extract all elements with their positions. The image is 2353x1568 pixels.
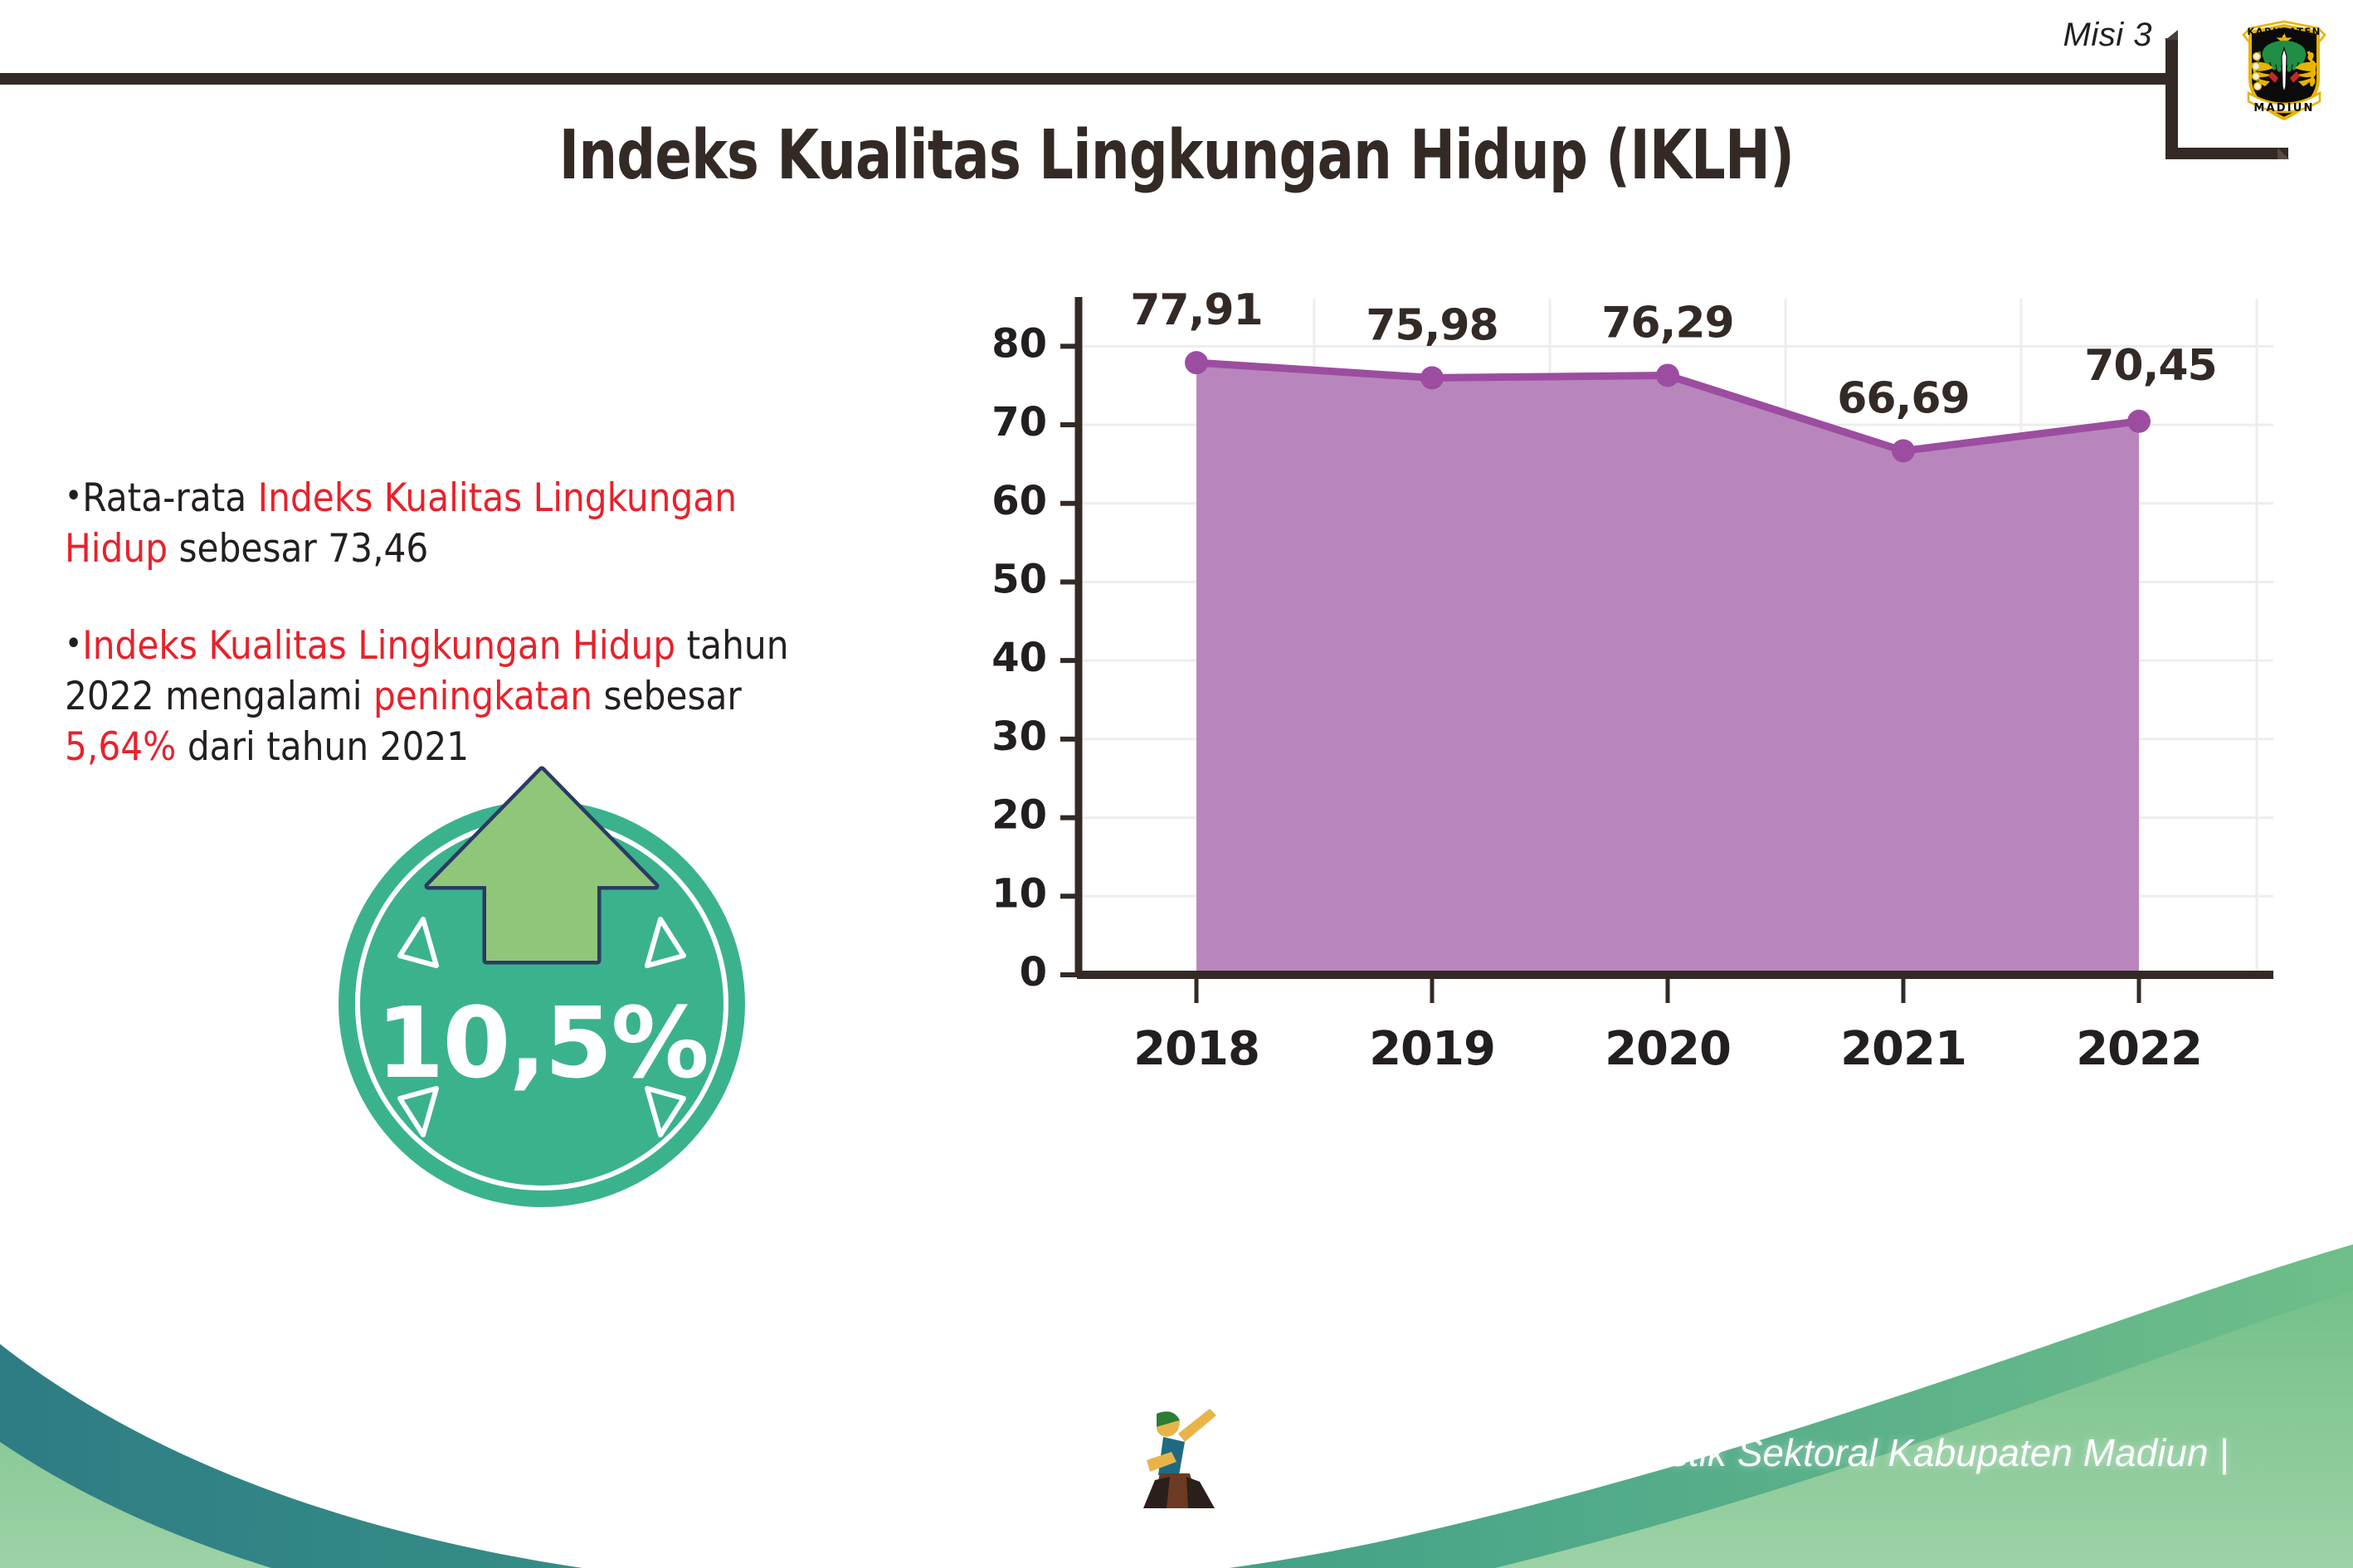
x-axis-tick-label: 2019 bbox=[1369, 1022, 1495, 1076]
y-axis-tick-label: 80 bbox=[991, 320, 1047, 367]
y-axis-tick-label: 20 bbox=[991, 792, 1047, 839]
bullet-dot: • bbox=[65, 625, 82, 663]
x-axis-tick-label: 2020 bbox=[1605, 1022, 1731, 1076]
y-axis-tick-label: 60 bbox=[991, 478, 1047, 524]
bullet-0-seg-2: sebesar 73,46 bbox=[168, 526, 428, 572]
y-axis-tick-label: 50 bbox=[991, 556, 1047, 602]
area-fill bbox=[1196, 363, 2139, 975]
header-bracket-horizontal bbox=[2165, 148, 2288, 159]
data-point-label: 66,69 bbox=[1837, 373, 1969, 423]
data-point-label: 75,98 bbox=[1366, 300, 1498, 350]
chart-canvas: 01020304050607080 20182019202020212022 7… bbox=[979, 274, 2273, 1203]
y-axis-tick-label: 70 bbox=[991, 399, 1047, 446]
x-axis-tick-label: 2021 bbox=[1840, 1022, 1966, 1076]
crest-icon: MADIUN KABUPATEN bbox=[2235, 10, 2333, 126]
increase-badge: 10,5% bbox=[330, 763, 753, 1211]
page-footer: Media Infografis Data Statistik Sektoral… bbox=[0, 1220, 2353, 1568]
footer-waves bbox=[0, 1220, 2353, 1568]
page-title: Indeks Kualitas Lingkungan Hidup (IKLH) bbox=[236, 116, 2118, 195]
x-axis-ticks bbox=[1196, 978, 2139, 1003]
bullet-1-seg-3: sebesar bbox=[592, 674, 742, 719]
kabupaten-madiun-crest-logo: MADIUN KABUPATEN bbox=[2235, 10, 2333, 126]
x-axis-tick-labels: 20182019202020212022 bbox=[1133, 1022, 2202, 1076]
bullet-dot: • bbox=[65, 477, 82, 515]
mascot-graphic bbox=[1138, 1404, 1228, 1510]
y-axis-tick-labels: 01020304050607080 bbox=[991, 320, 1047, 996]
bullet-1-seg-0: Indeks Kualitas Lingkungan Hidup bbox=[82, 623, 675, 669]
data-point-label: 77,91 bbox=[1130, 285, 1262, 335]
y-axis-tick-label: 0 bbox=[1020, 949, 1047, 996]
footer-caption: Media Infografis Data Statistik Sektoral… bbox=[1220, 1430, 2229, 1475]
y-axis-tick-label: 30 bbox=[991, 713, 1047, 760]
crest-bottom-text: MADIUN bbox=[2253, 102, 2314, 114]
iklh-area-chart: 01020304050607080 20182019202020212022 7… bbox=[979, 274, 2273, 1203]
header-rule bbox=[0, 73, 2174, 85]
bullet-1-seg-2: peningkatan bbox=[373, 674, 592, 719]
dancer-mascot-icon bbox=[1138, 1404, 1228, 1510]
x-axis-tick-label: 2022 bbox=[2076, 1022, 2202, 1076]
y-axis-tick-label: 40 bbox=[991, 635, 1047, 681]
list-item: •Indeks Kualitas Lingkungan Hidup tahun … bbox=[65, 621, 841, 772]
list-item: •Rata-rata Indeks Kualitas Lingkungan Hi… bbox=[65, 473, 841, 574]
data-point-label: 70,45 bbox=[2084, 341, 2216, 391]
crest-top-text: KABUPATEN bbox=[2247, 26, 2321, 37]
mission-label: Misi 3 bbox=[2063, 17, 2152, 54]
header-bracket-vertical bbox=[2165, 38, 2178, 159]
bullet-0-seg-0: Rata-rata bbox=[82, 475, 257, 521]
y-axis-tick-label: 10 bbox=[991, 870, 1047, 917]
x-axis-tick-label: 2018 bbox=[1133, 1022, 1259, 1076]
badge-percent-label: 10,5% bbox=[330, 986, 753, 1100]
bullet-1-seg-4: 5,64% bbox=[65, 724, 176, 770]
data-point-label: 76,29 bbox=[1601, 298, 1733, 348]
